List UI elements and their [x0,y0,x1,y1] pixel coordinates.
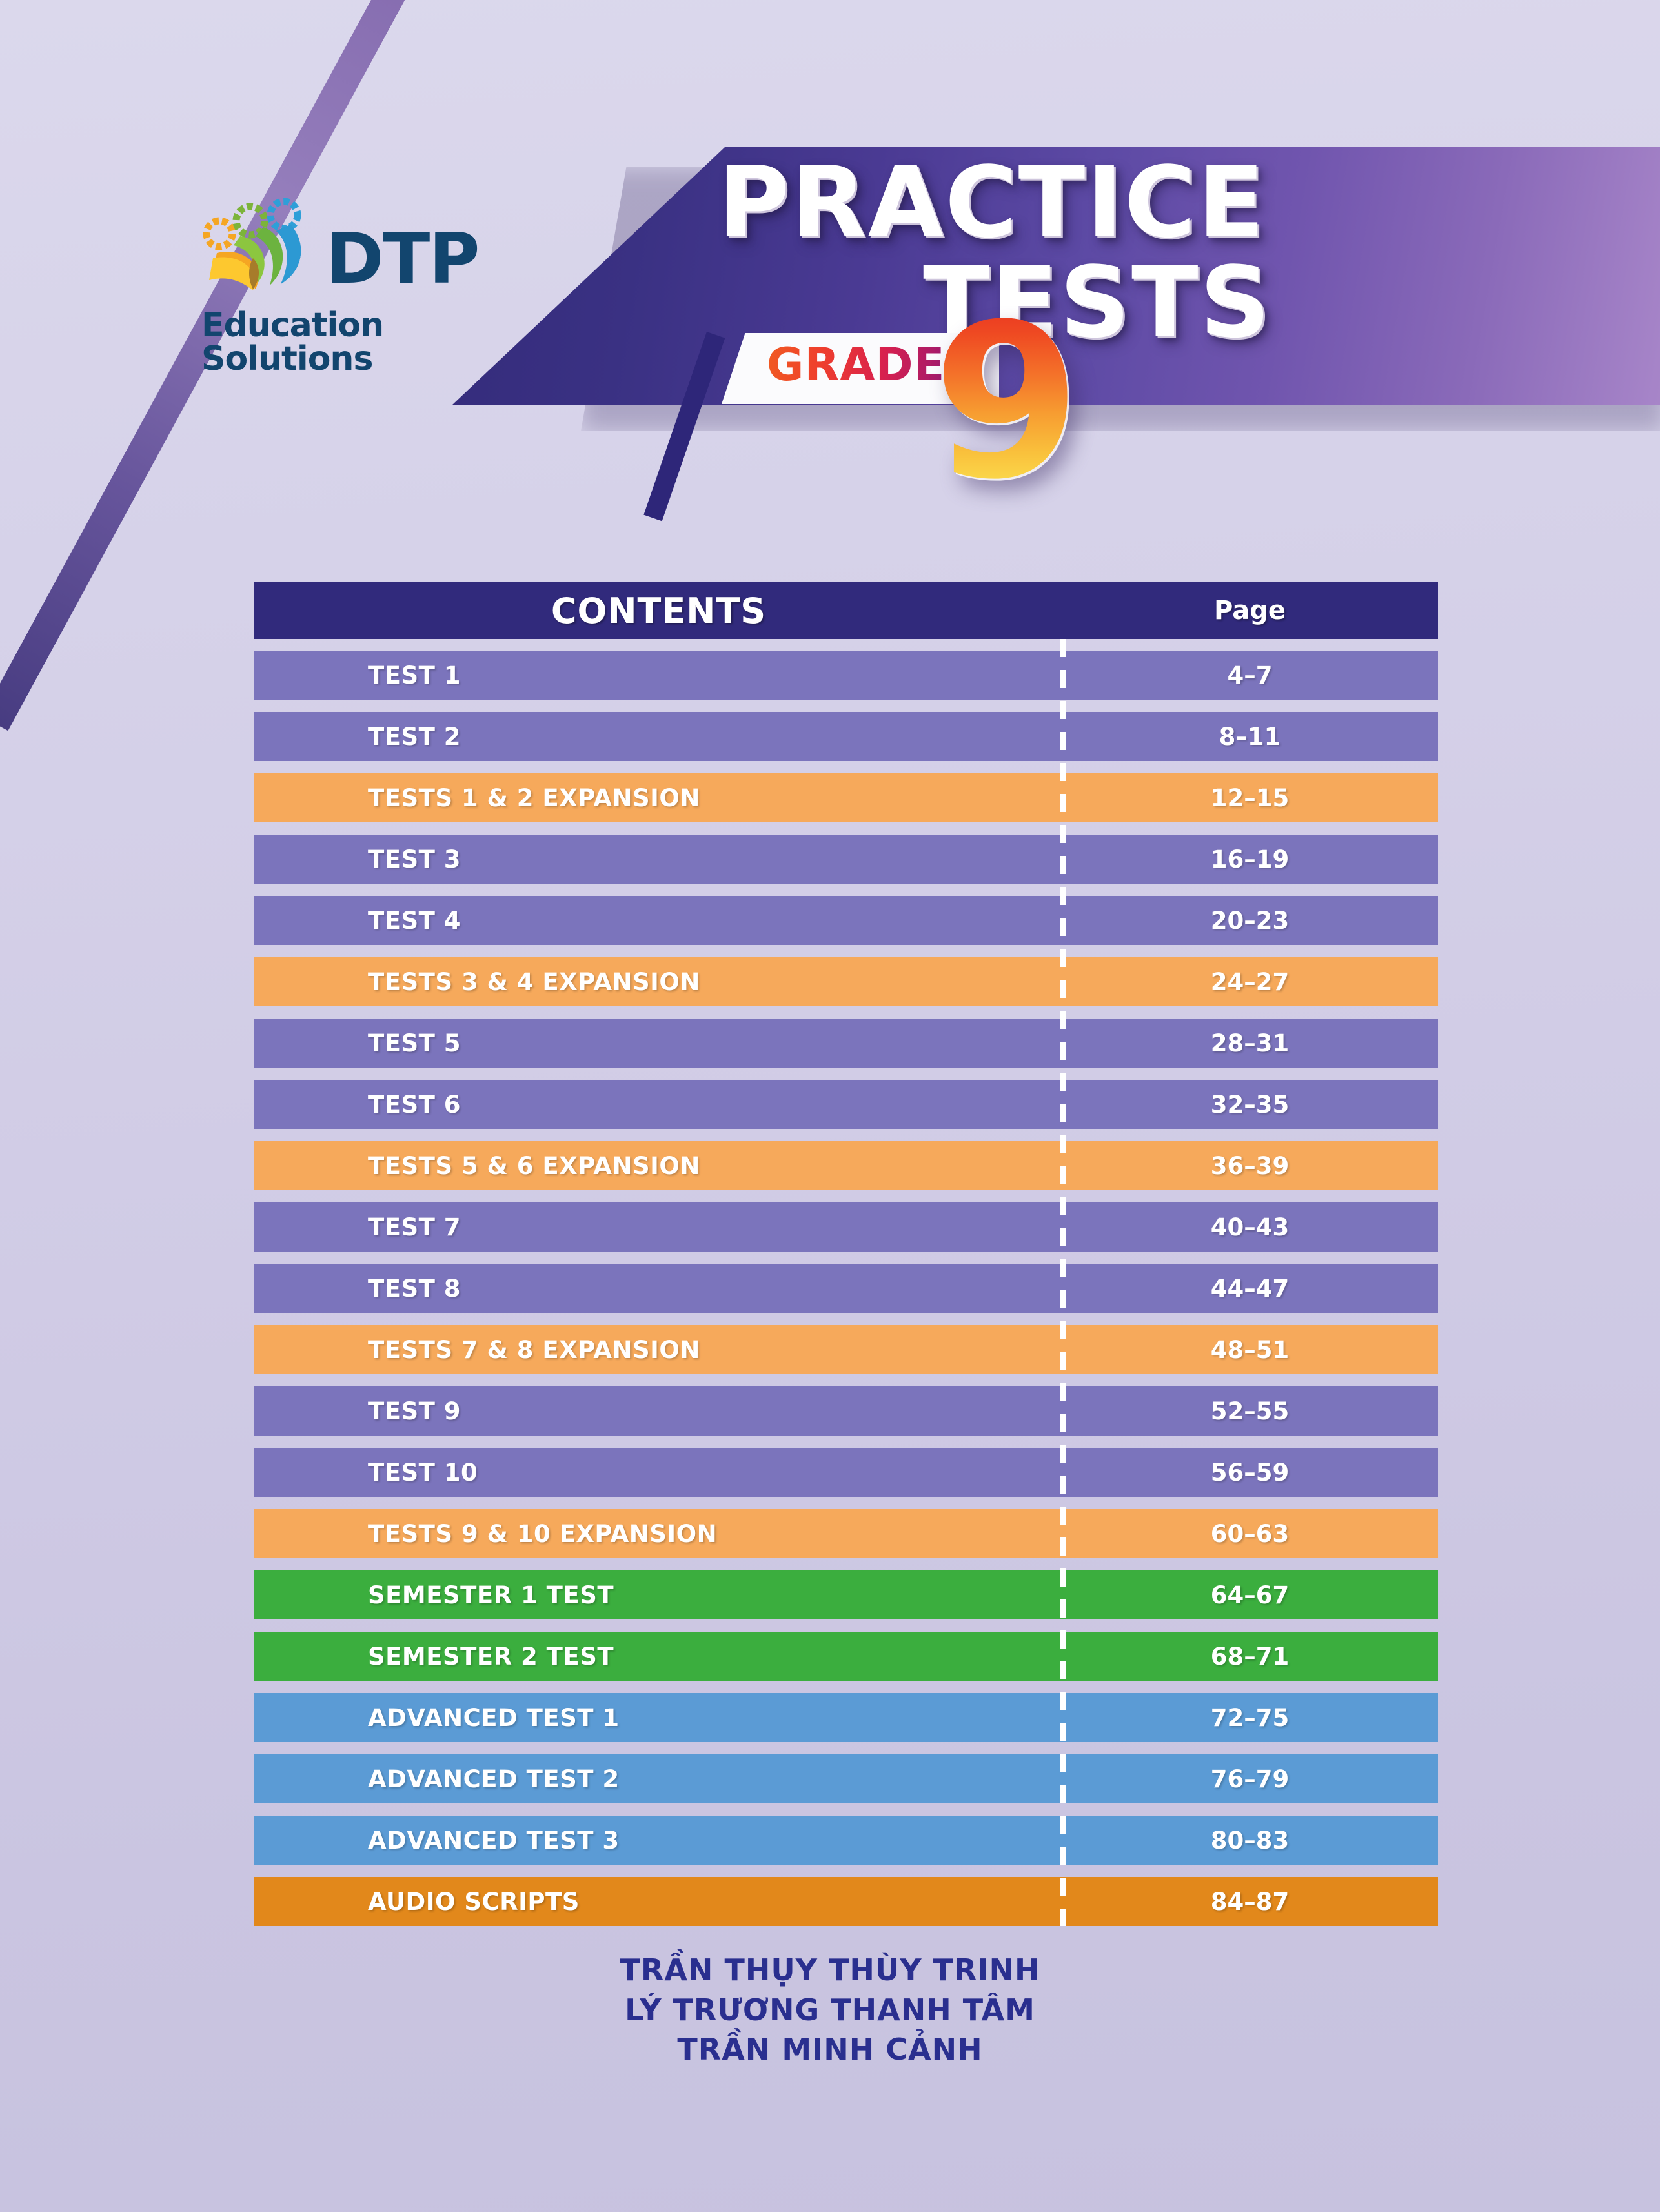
contents-row-page: 52–55 [1062,1397,1438,1425]
logo-tagline: Education Solutions [201,309,529,376]
contents-row-label: SEMESTER 1 TEST [368,1581,614,1609]
contents-row-expansion[interactable]: TESTS 1 & 2 EXPANSION12–15 [254,773,1438,822]
contents-table: CONTENTS Page TEST 14–7TEST 28–11TESTS 1… [254,582,1438,1938]
contents-column-header: CONTENTS [254,591,1064,631]
contents-row-label: ADVANCED TEST 3 [368,1827,620,1854]
contents-row-page: 44–47 [1062,1275,1438,1303]
contents-row-test[interactable]: TEST 528–31 [254,1019,1438,1068]
contents-row-label: TEST 5 [368,1030,461,1057]
contents-row-page: 28–31 [1062,1030,1438,1057]
contents-row-list: TEST 14–7TEST 28–11TESTS 1 & 2 EXPANSION… [254,639,1438,1926]
contents-row-page: 4–7 [1062,662,1438,689]
contents-row-page: 72–75 [1062,1704,1438,1732]
contents-row-label: ADVANCED TEST 2 [368,1765,620,1793]
author-name: TRẦN MINH CẢNH [0,2030,1660,2070]
contents-row-label: TEST 2 [368,723,461,751]
contents-row-page: 60–63 [1062,1520,1438,1548]
contents-row-page: 16–19 [1062,846,1438,873]
contents-row-label: TEST 9 [368,1397,461,1425]
contents-row-semester[interactable]: SEMESTER 2 TEST68–71 [254,1632,1438,1681]
contents-row-page: 20–23 [1062,907,1438,935]
book-cover-contents-page: PRACTICE TESTS GRADE 9 DTP Education S [0,0,1660,2212]
contents-row-test[interactable]: TEST 844–47 [254,1264,1438,1313]
contents-row-page: 48–51 [1062,1336,1438,1364]
contents-row-page: 64–67 [1062,1581,1438,1609]
contents-row-label: TEST 10 [368,1459,478,1487]
contents-row-advanced[interactable]: ADVANCED TEST 172–75 [254,1693,1438,1742]
contents-row-page: 56–59 [1062,1459,1438,1487]
contents-row-label: TESTS 3 & 4 EXPANSION [368,968,700,996]
contents-row-expansion[interactable]: TESTS 3 & 4 EXPANSION24–27 [254,957,1438,1006]
contents-row-test[interactable]: TEST 740–43 [254,1202,1438,1252]
contents-row-expansion[interactable]: TESTS 7 & 8 EXPANSION48–51 [254,1325,1438,1374]
contents-row-label: TEST 3 [368,846,461,873]
contents-row-label: TEST 7 [368,1213,461,1241]
contents-row-page: 80–83 [1062,1827,1438,1854]
grade-number: 9 [933,296,1081,509]
contents-row-label: AUDIO SCRIPTS [368,1888,580,1916]
author-name: LÝ TRƯƠNG THANH TÂM [0,1991,1660,2031]
title-practice: PRACTICE [718,154,1266,252]
contents-row-page: 8–11 [1062,723,1438,751]
contents-row-semester[interactable]: SEMESTER 1 TEST64–67 [254,1570,1438,1619]
contents-row-expansion[interactable]: TESTS 9 & 10 EXPANSION60–63 [254,1509,1438,1558]
contents-row-test[interactable]: TEST 632–35 [254,1080,1438,1129]
contents-row-page: 76–79 [1062,1765,1438,1793]
author-list: TRẦN THỤY THÙY TRINH LÝ TRƯƠNG THANH TÂM… [0,1951,1660,2070]
contents-row-audio[interactable]: AUDIO SCRIPTS84–87 [254,1877,1438,1926]
contents-row-test[interactable]: TEST 1056–59 [254,1448,1438,1497]
contents-row-label: TESTS 5 & 6 EXPANSION [368,1152,700,1180]
contents-row-expansion[interactable]: TESTS 5 & 6 EXPANSION36–39 [254,1141,1438,1190]
contents-row-page: 24–27 [1062,968,1438,996]
author-name: TRẦN THỤY THÙY TRINH [0,1951,1660,1991]
page-column-header: Page [1062,596,1438,625]
contents-row-page: 40–43 [1062,1213,1438,1241]
contents-row-label: ADVANCED TEST 1 [368,1704,620,1732]
contents-row-label: TEST 4 [368,907,461,935]
contents-row-test[interactable]: TEST 316–19 [254,835,1438,884]
column-divider-dashed [1060,639,1066,1926]
contents-row-page: 36–39 [1062,1152,1438,1180]
dtp-logo-mark-icon [194,194,329,303]
contents-row-page: 32–35 [1062,1091,1438,1119]
contents-row-label: TEST 8 [368,1275,461,1303]
contents-row-page: 12–15 [1062,784,1438,812]
logo-brand-text: DTP [326,225,478,294]
contents-row-page: 68–71 [1062,1643,1438,1670]
contents-row-label: TEST 6 [368,1091,461,1119]
dtp-logo: DTP Education Solutions [194,194,529,381]
contents-row-test[interactable]: TEST 952–55 [254,1386,1438,1436]
contents-table-header: CONTENTS Page [254,582,1438,639]
contents-row-label: TEST 1 [368,662,461,689]
contents-row-label: TESTS 1 & 2 EXPANSION [368,784,700,812]
contents-row-test[interactable]: TEST 14–7 [254,651,1438,700]
contents-row-label: TESTS 9 & 10 EXPANSION [368,1520,717,1548]
contents-row-label: TESTS 7 & 8 EXPANSION [368,1336,700,1364]
contents-row-advanced[interactable]: ADVANCED TEST 380–83 [254,1816,1438,1865]
contents-row-test[interactable]: TEST 420–23 [254,896,1438,945]
contents-row-label: SEMESTER 2 TEST [368,1643,614,1670]
contents-row-test[interactable]: TEST 28–11 [254,712,1438,761]
contents-row-advanced[interactable]: ADVANCED TEST 276–79 [254,1754,1438,1803]
grade-label: GRADE [767,342,945,387]
contents-row-page: 84–87 [1062,1888,1438,1916]
